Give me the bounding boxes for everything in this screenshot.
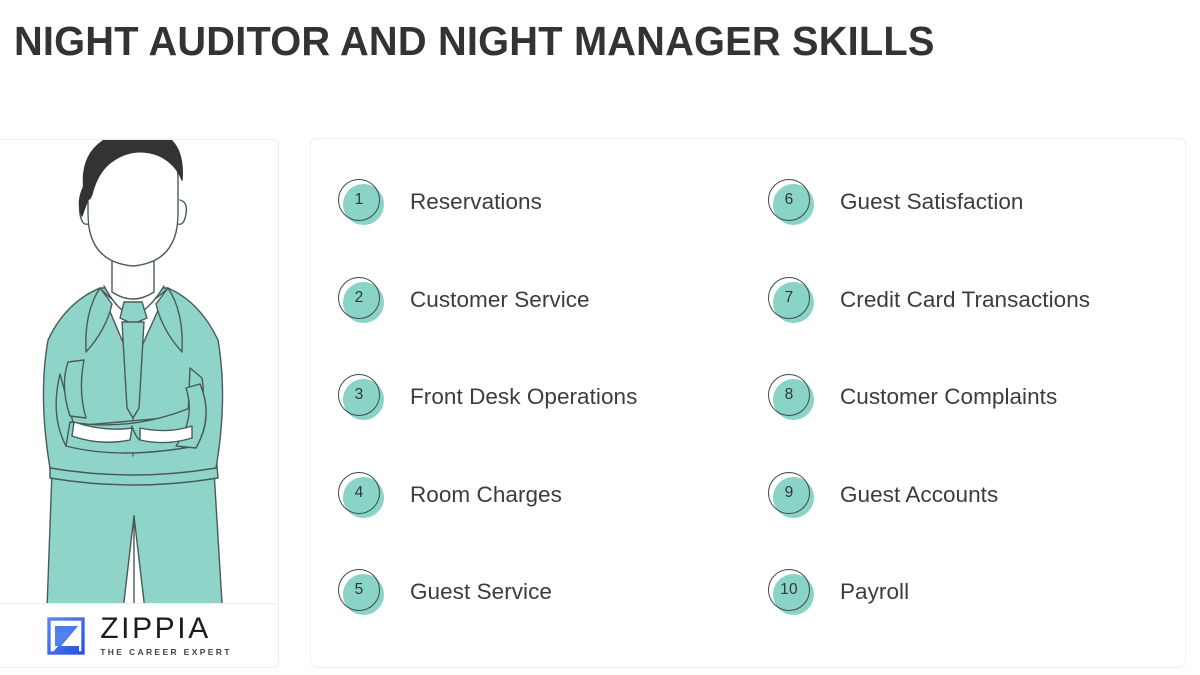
skills-panel: 1 Reservations 6 Guest Satisfaction 2 Cu… bbox=[310, 138, 1186, 668]
badge-ring: 9 bbox=[768, 472, 810, 514]
skill-item-8[interactable]: 8 Customer Complaints bbox=[768, 376, 1175, 474]
night-auditor-person-illustration bbox=[0, 139, 279, 636]
skill-item-4[interactable]: 4 Room Charges bbox=[338, 474, 768, 572]
zippia-wordmark: ZIPPIA bbox=[100, 614, 232, 644]
skill-item-6[interactable]: 6 Guest Satisfaction bbox=[768, 181, 1175, 279]
skill-item-7[interactable]: 7 Credit Card Transactions bbox=[768, 279, 1175, 377]
skill-label: Front Desk Operations bbox=[410, 376, 637, 418]
skill-label: Guest Service bbox=[410, 571, 552, 613]
skill-label: Room Charges bbox=[410, 474, 562, 516]
skill-label: Reservations bbox=[410, 181, 542, 223]
skill-number-badge: 10 bbox=[768, 569, 814, 615]
badge-number: 1 bbox=[355, 192, 364, 208]
illustration-card: ZIPPIA THE CAREER EXPERT bbox=[0, 139, 279, 668]
badge-number: 5 bbox=[355, 582, 364, 598]
skill-number-badge: 5 bbox=[338, 569, 384, 615]
badge-ring: 10 bbox=[768, 569, 810, 611]
skill-number-badge: 8 bbox=[768, 374, 814, 420]
badge-number: 10 bbox=[780, 582, 798, 598]
skill-item-3[interactable]: 3 Front Desk Operations bbox=[338, 376, 768, 474]
badge-number: 6 bbox=[785, 192, 794, 208]
page-title: NIGHT AUDITOR AND NIGHT MANAGER SKILLS bbox=[14, 18, 935, 65]
badge-number: 8 bbox=[785, 387, 794, 403]
badge-ring: 4 bbox=[338, 472, 380, 514]
badge-ring: 5 bbox=[338, 569, 380, 611]
zippia-logo: ZIPPIA THE CAREER EXPERT bbox=[0, 603, 277, 667]
skill-label: Payroll bbox=[840, 571, 909, 613]
skill-label: Customer Complaints bbox=[840, 376, 1057, 418]
skill-label: Customer Service bbox=[410, 279, 590, 321]
zippia-tagline: THE CAREER EXPERT bbox=[100, 648, 232, 657]
skill-label: Credit Card Transactions bbox=[840, 279, 1090, 321]
skill-number-badge: 3 bbox=[338, 374, 384, 420]
zippia-z-mark-icon bbox=[45, 615, 87, 657]
skill-item-1[interactable]: 1 Reservations bbox=[338, 181, 768, 279]
skill-item-9[interactable]: 9 Guest Accounts bbox=[768, 474, 1175, 572]
skill-number-badge: 1 bbox=[338, 179, 384, 225]
badge-number: 3 bbox=[355, 387, 364, 403]
skill-label: Guest Satisfaction bbox=[840, 181, 1024, 223]
skill-number-badge: 4 bbox=[338, 472, 384, 518]
badge-ring: 8 bbox=[768, 374, 810, 416]
badge-number: 9 bbox=[785, 485, 794, 501]
skill-item-2[interactable]: 2 Customer Service bbox=[338, 279, 768, 377]
skill-number-badge: 2 bbox=[338, 277, 384, 323]
skill-item-5[interactable]: 5 Guest Service bbox=[338, 571, 768, 669]
badge-ring: 6 bbox=[768, 179, 810, 221]
badge-number: 2 bbox=[355, 290, 364, 306]
skill-number-badge: 7 bbox=[768, 277, 814, 323]
badge-number: 4 bbox=[355, 485, 364, 501]
badge-ring: 2 bbox=[338, 277, 380, 319]
skill-item-10[interactable]: 10 Payroll bbox=[768, 571, 1175, 669]
badge-number: 7 bbox=[785, 290, 794, 306]
skill-label: Guest Accounts bbox=[840, 474, 998, 516]
badge-ring: 3 bbox=[338, 374, 380, 416]
badge-ring: 7 bbox=[768, 277, 810, 319]
skill-number-badge: 9 bbox=[768, 472, 814, 518]
badge-ring: 1 bbox=[338, 179, 380, 221]
skills-grid: 1 Reservations 6 Guest Satisfaction 2 Cu… bbox=[338, 181, 1175, 669]
zippia-logo-text: ZIPPIA THE CAREER EXPERT bbox=[100, 614, 232, 658]
skill-number-badge: 6 bbox=[768, 179, 814, 225]
